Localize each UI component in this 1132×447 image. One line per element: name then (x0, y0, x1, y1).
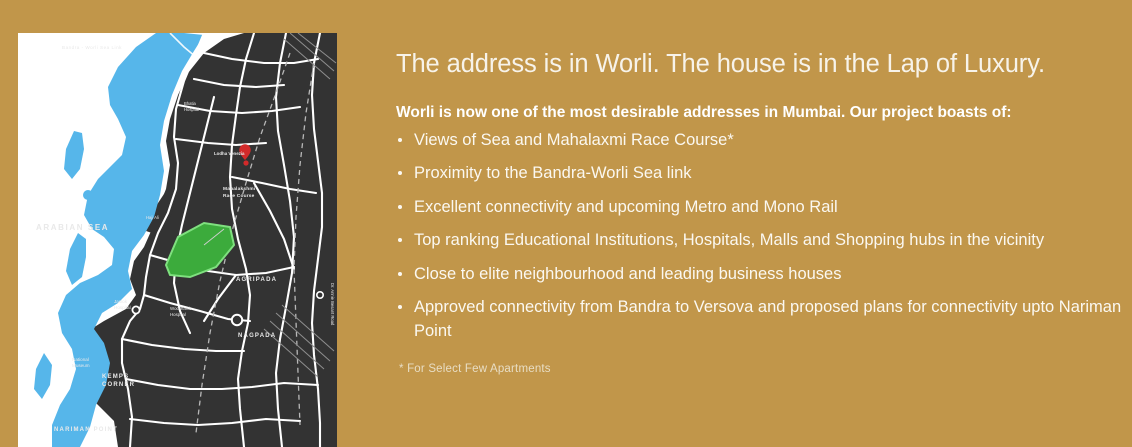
location-section: Bandra - Worli Sea Link ARABIAN SEA Maha… (0, 0, 1132, 447)
map-label-sea-link: Bandra - Worli Sea Link (62, 45, 122, 50)
bullet-icon (398, 138, 402, 142)
subheading: Worli is now one of the most desirable a… (396, 103, 1012, 123)
map-label-kemps-corner-line2: CORNER (102, 382, 135, 388)
feature-list: Views of Sea and Mahalaxmi Race Course* … (396, 129, 1122, 353)
list-item-label: Proximity to the Bandra-Worli Sea link (414, 164, 692, 182)
list-item-label: Top ranking Educational Institutions, Ho… (414, 231, 1044, 249)
list-item: Top ranking Educational Institutions, Ho… (396, 229, 1122, 252)
list-item: Proximity to the Bandra-Worli Sea link (396, 162, 1122, 185)
map-label-national-museum-line1: National (72, 357, 89, 362)
map-label-jaslok-hospital-line1: Jaslok (114, 299, 128, 304)
map-label-race-course-line1: Mahalakshmi (223, 186, 255, 192)
map-label-agripada: AGRIPADA (236, 277, 277, 283)
list-item: Close to elite neighbourhood and leading… (396, 263, 1122, 286)
list-item-label: Close to elite neighbourhood and leading… (414, 265, 841, 283)
list-item-label: Excellent connectivity and upcoming Metr… (414, 198, 838, 216)
map-label-wockhardt-hospital-line1: Wockhardt (170, 306, 192, 311)
map-label-bhatia-hospital-line1: Bhatia (184, 101, 197, 106)
map-label-side-road: Dr. Annie Besant Road (330, 283, 335, 326)
bullet-icon (398, 205, 402, 209)
map-label-arabian-sea: ARABIAN SEA (36, 223, 109, 232)
bullet-icon (398, 272, 402, 276)
bullet-icon (398, 171, 402, 175)
map-label-nariman-point: NARIMAN POINT (54, 427, 118, 433)
list-item-label: Approved connectivity from Bandra to Ver… (414, 298, 1121, 339)
location-map-image: Bandra - Worli Sea Link ARABIAN SEA Maha… (18, 33, 337, 447)
page-title: The address is in Worli. The house is in… (396, 49, 1045, 80)
map-water-blob-2 (83, 190, 93, 200)
footnote: * For Select Few Apartments (399, 363, 551, 375)
bullet-icon (398, 305, 402, 309)
map-label-national-museum-line2: Museum (72, 363, 90, 368)
map-label-wockhardt-hospital-line2: Hospital (170, 312, 186, 317)
map-label-jaslok-hospital-line2: Hospital (114, 305, 131, 310)
map-label-bhatia-hospital-line2: Hospital (184, 107, 199, 112)
list-item-label: Views of Sea and Mahalaxmi Race Course* (414, 131, 734, 149)
map-label-haji-ali: Haji Ali (146, 215, 159, 220)
map-label-race-course-line2: Race Course (223, 193, 255, 199)
list-item: Excellent connectivity and upcoming Metr… (396, 196, 1122, 219)
bullet-icon (398, 238, 402, 242)
location-content: The address is in Worli. The house is in… (396, 0, 1122, 447)
map-label-project: Lodha Venezia (214, 151, 245, 156)
map-label-nagpada: NAGPADA (238, 333, 276, 339)
map-label-kemps-corner-line1: KEMPS (102, 374, 129, 380)
list-item: Approved connectivity from Bandra to Ver… (396, 296, 1122, 343)
map-graphic: Bandra - Worli Sea Link ARABIAN SEA Maha… (18, 33, 337, 447)
list-item: Views of Sea and Mahalaxmi Race Course* (396, 129, 1122, 152)
map-water-blob-4 (76, 291, 84, 299)
